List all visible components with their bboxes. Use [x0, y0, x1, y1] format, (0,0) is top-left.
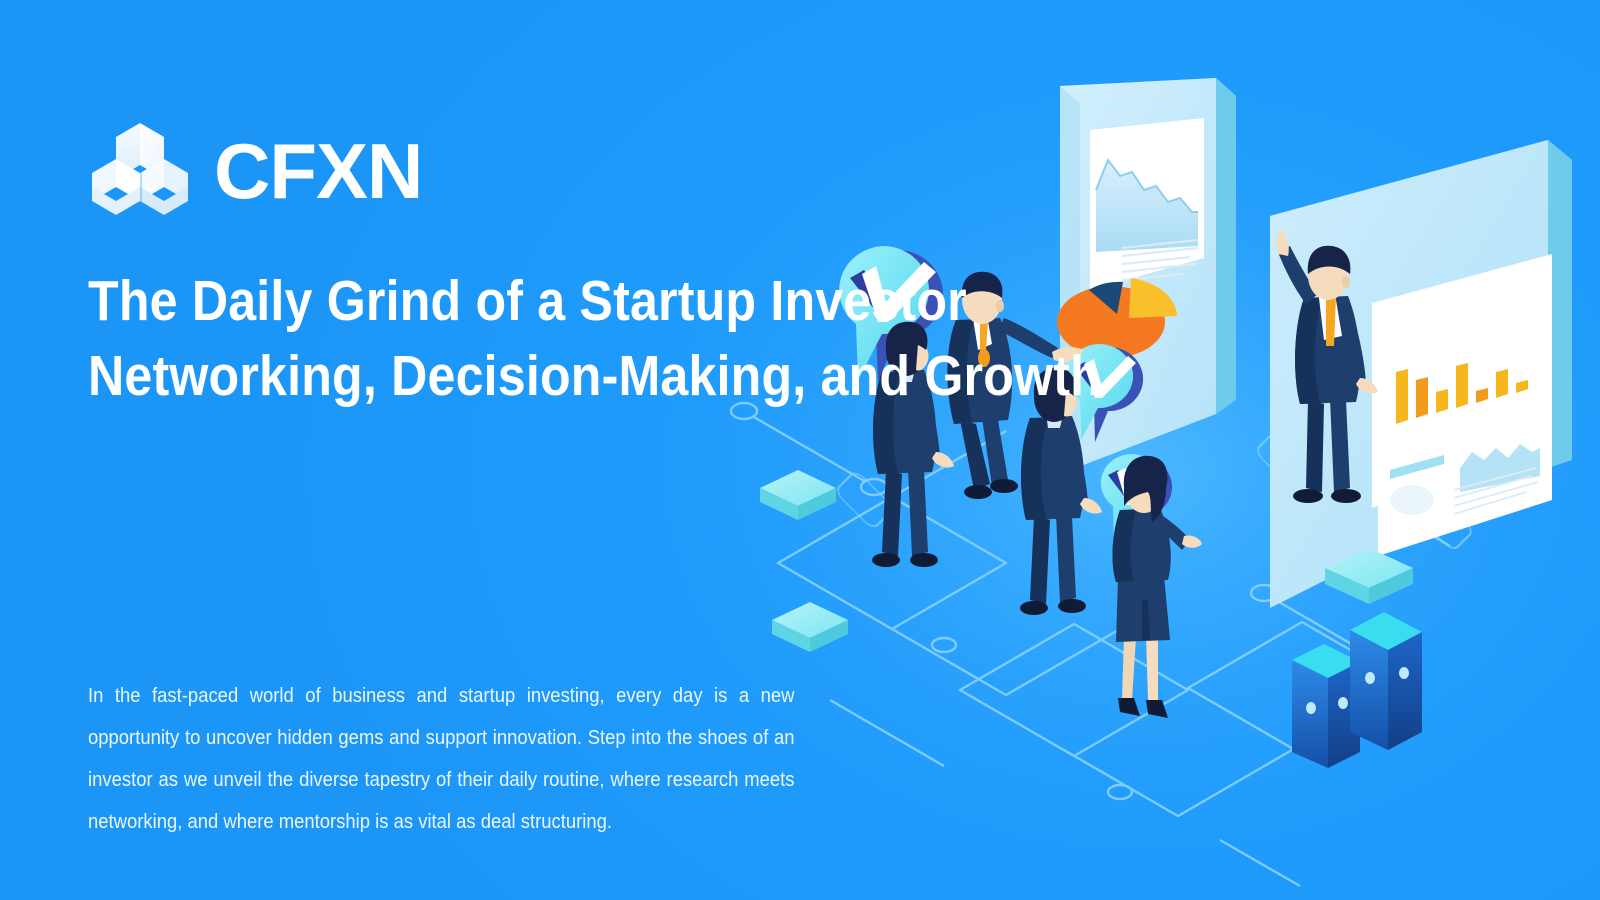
server-led-1	[1365, 672, 1375, 684]
panel-right-edge	[1216, 78, 1236, 414]
shoe-right	[1331, 489, 1361, 503]
shoe-right	[1058, 599, 1086, 613]
server-led-1	[1306, 702, 1316, 714]
shoe-left	[1020, 601, 1048, 615]
body-paragraph: In the fast-paced world of business and …	[88, 675, 795, 843]
ear	[996, 300, 1004, 312]
leg-right	[1146, 636, 1158, 700]
brand-lockup: CFXN	[88, 120, 888, 222]
server-led-2	[1338, 697, 1348, 709]
area-chart-card	[1090, 118, 1204, 290]
shoe-right	[990, 479, 1018, 493]
hero-text-column: CFXN The Daily Grind of a Startup Invest…	[88, 120, 888, 414]
cfxn-logo-icon	[88, 119, 192, 223]
brand-name: CFXN	[214, 132, 422, 210]
shoe-left	[872, 553, 900, 567]
headline-line-1: The Daily Grind of a Startup Investor	[88, 264, 792, 339]
server-tower-right	[1350, 612, 1422, 750]
shoe-right	[910, 553, 938, 567]
mini-donut	[1390, 485, 1434, 515]
shoe-left	[964, 485, 992, 499]
shoe-left	[1293, 489, 1323, 503]
hero-banner: CFXN The Daily Grind of a Startup Invest…	[0, 0, 1600, 900]
ear	[1342, 276, 1350, 288]
server-front-right	[1388, 632, 1422, 750]
page-title: The Daily Grind of a Startup Investor Ne…	[88, 264, 792, 414]
server-led-2	[1399, 667, 1409, 679]
headline-line-2: Networking, Decision-Making, and Growth	[88, 339, 792, 414]
server-front-left	[1292, 660, 1328, 768]
leg-left	[1306, 400, 1324, 492]
server-front-left	[1350, 630, 1388, 750]
server-tower-left	[1292, 644, 1360, 768]
